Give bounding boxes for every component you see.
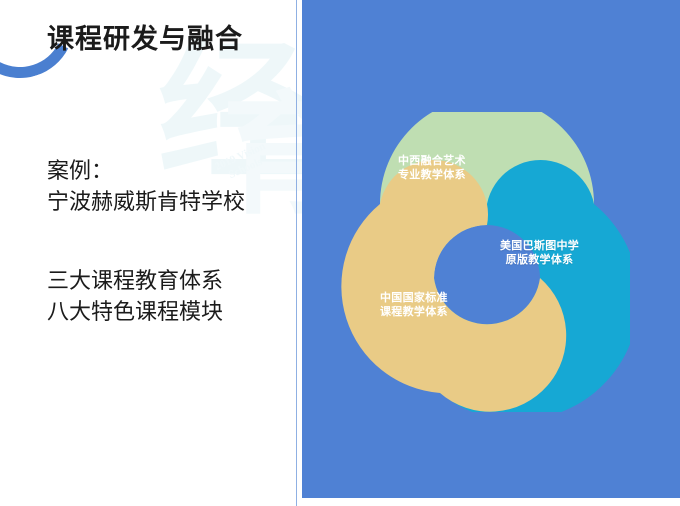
- panel-divider: [296, 0, 297, 506]
- blue-lobe-label-line-2: 原版教学体系: [500, 254, 579, 268]
- summary-line-2: 八大特色课程模块: [47, 296, 223, 327]
- summary-block: 三大课程教育体系 八大特色课程模块: [47, 265, 223, 327]
- triskelion-svg: [340, 112, 630, 412]
- green-lobe-label-line-1: 中西融合艺术: [398, 155, 466, 169]
- blue-lobe-label-line-1: 美国巴斯图中学: [500, 240, 579, 254]
- yellow-lobe-label-line-2: 课程教学体系: [380, 306, 448, 320]
- case-study-value: 宁波赫威斯肯特学校: [47, 186, 245, 217]
- green-lobe-label: 中西融合艺术 专业教学体系: [398, 155, 466, 182]
- case-study-label: 案例：: [47, 155, 245, 186]
- yellow-lobe-label: 中国国家标准 课程教学体系: [380, 292, 448, 319]
- green-lobe-label-line-2: 专业教学体系: [398, 169, 466, 183]
- yellow-lobe-label-line-1: 中国国家标准: [380, 292, 448, 306]
- slide-canvas: 经 育 2019 Vision Schools 课程研发与融合 案例： 宁波赫威…: [0, 0, 680, 506]
- summary-line-1: 三大课程教育体系: [47, 265, 223, 296]
- page-title: 课程研发与融合: [47, 22, 243, 56]
- case-study-block: 案例： 宁波赫威斯肯特学校: [47, 155, 245, 217]
- triskelion-diagram: 中西融合艺术 专业教学体系 美国巴斯图中学 原版教学体系 中国国家标准 课程教学…: [340, 112, 630, 412]
- blue-lobe-label: 美国巴斯图中学 原版教学体系: [500, 240, 579, 267]
